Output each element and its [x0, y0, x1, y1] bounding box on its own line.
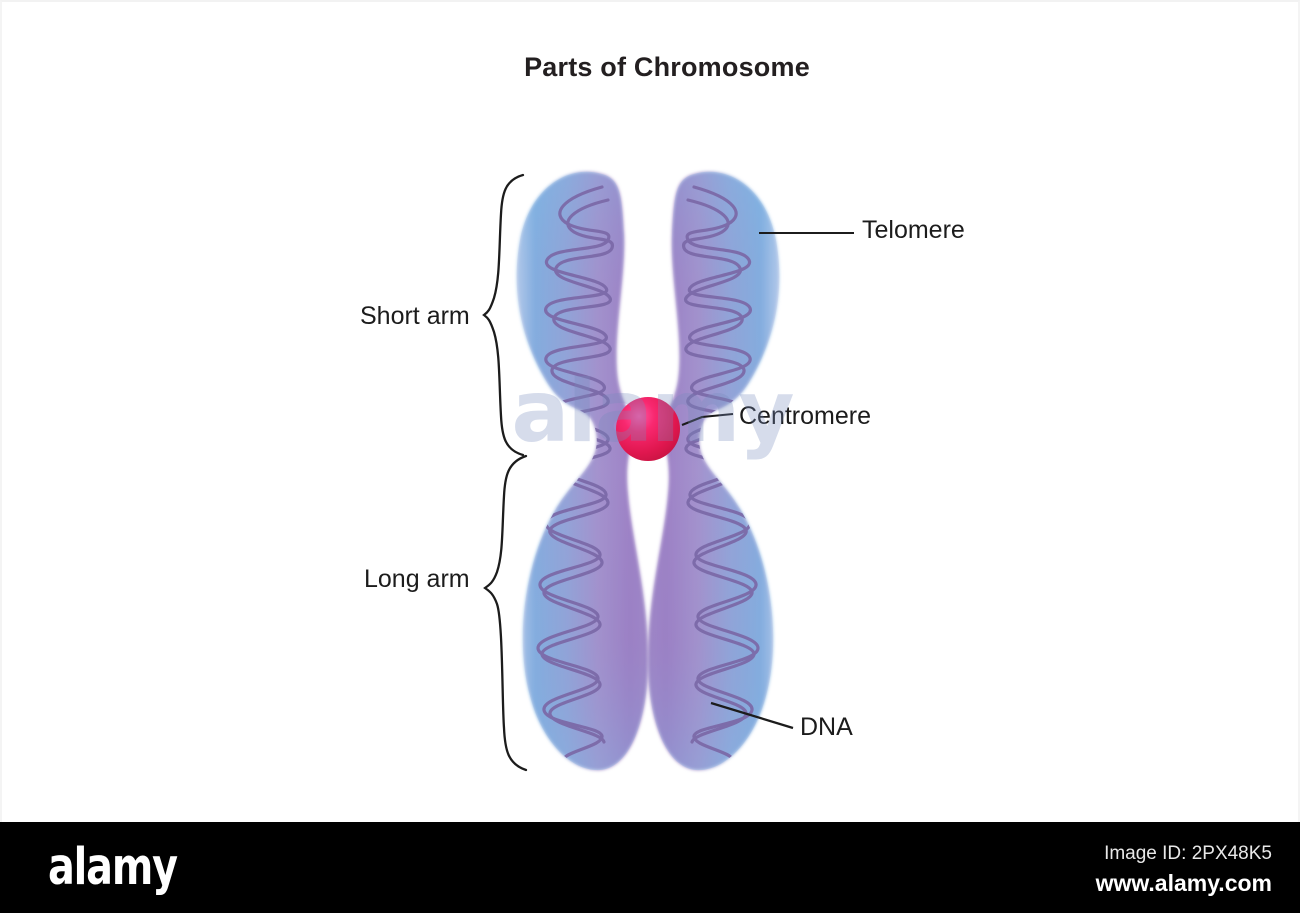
- long-arm-brace: [485, 456, 526, 770]
- image-id-text: Image ID: 2PX48K5: [1104, 843, 1272, 865]
- label-short-arm: Short arm: [360, 302, 470, 331]
- chromosome-diagram: [2, 2, 1300, 824]
- short-arm-brace: [484, 175, 523, 455]
- label-telomere: Telomere: [862, 216, 965, 245]
- chromatid-left: [517, 172, 649, 770]
- label-centromere: Centromere: [739, 402, 871, 431]
- chromatid-right: [648, 172, 780, 770]
- illustration-canvas: Parts of Chromosome: [0, 0, 1300, 822]
- screenshot-root: Parts of Chromosome: [0, 0, 1300, 913]
- watermark-bar: alamy Image ID: 2PX48K5 www.alamy.com: [0, 822, 1300, 913]
- alamy-url-text: www.alamy.com: [1096, 870, 1272, 897]
- alamy-logo: alamy: [48, 842, 177, 893]
- centromere-sphere: [616, 397, 680, 461]
- label-dna: DNA: [800, 713, 853, 742]
- label-long-arm: Long arm: [364, 565, 470, 594]
